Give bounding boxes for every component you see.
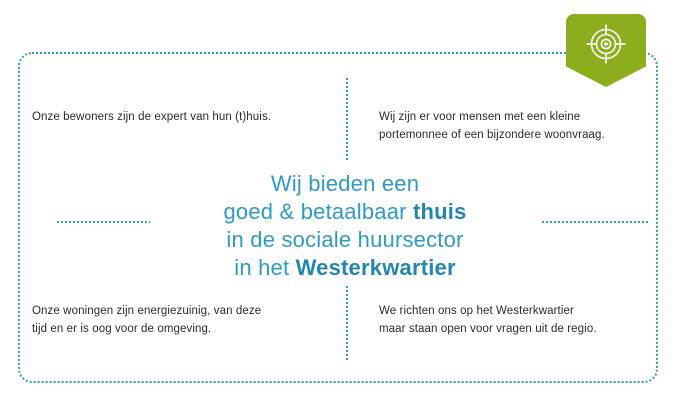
statement-bottom-right-line-2: maar staan open voor vragen uit de regio… [379, 320, 659, 338]
headline-line-4: in het Westerkwartier [160, 254, 530, 282]
headline-line-2: goed & betaalbaar thuis [160, 198, 530, 226]
statement-bottom-left: Onze woningen zijn energiezuinig, van de… [32, 302, 322, 338]
headline-line-4-bold: Westerkwartier [296, 255, 456, 280]
center-headline: Wij bieden een goed & betaalbaar thuis i… [150, 168, 540, 284]
vertical-divider-top [346, 78, 348, 160]
green-badge [566, 14, 646, 87]
statement-bottom-left-line-1: Onze woningen zijn energiezuinig, van de… [32, 302, 322, 320]
statement-top-right-line-2: portemonnee of een bijzondere woonvraag. [379, 126, 659, 144]
headline-line-2-plain: goed & betaalbaar [223, 199, 413, 224]
statement-top-left: Onze bewoners zijn de expert van hun (t)… [32, 108, 322, 126]
headline-line-3-plain: in de sociale huursector [226, 227, 463, 252]
headline-line-4-plain: in het [234, 255, 295, 280]
statement-top-left-line-1: Onze bewoners zijn de expert van hun (t)… [32, 108, 322, 126]
vertical-divider-bottom [346, 278, 348, 360]
headline-line-1: Wij bieden een [160, 170, 530, 198]
target-bullseye-icon [584, 22, 628, 66]
statement-bottom-left-line-2: tijd en er is oog voor de omgeving. [32, 320, 322, 338]
headline-line-2-bold: thuis [413, 199, 467, 224]
statement-top-right: Wij zijn er voor mensen met een kleine p… [379, 108, 659, 144]
infographic-canvas: Onze bewoners zijn de expert van hun (t)… [0, 0, 690, 414]
statement-bottom-right: We richten ons op het Westerkwartier maa… [379, 302, 659, 338]
statement-bottom-right-line-1: We richten ons op het Westerkwartier [379, 302, 659, 320]
headline-line-3: in de sociale huursector [160, 226, 530, 254]
statement-top-right-line-1: Wij zijn er voor mensen met een kleine [379, 108, 659, 126]
headline-line-1-plain: Wij bieden een [271, 171, 419, 196]
